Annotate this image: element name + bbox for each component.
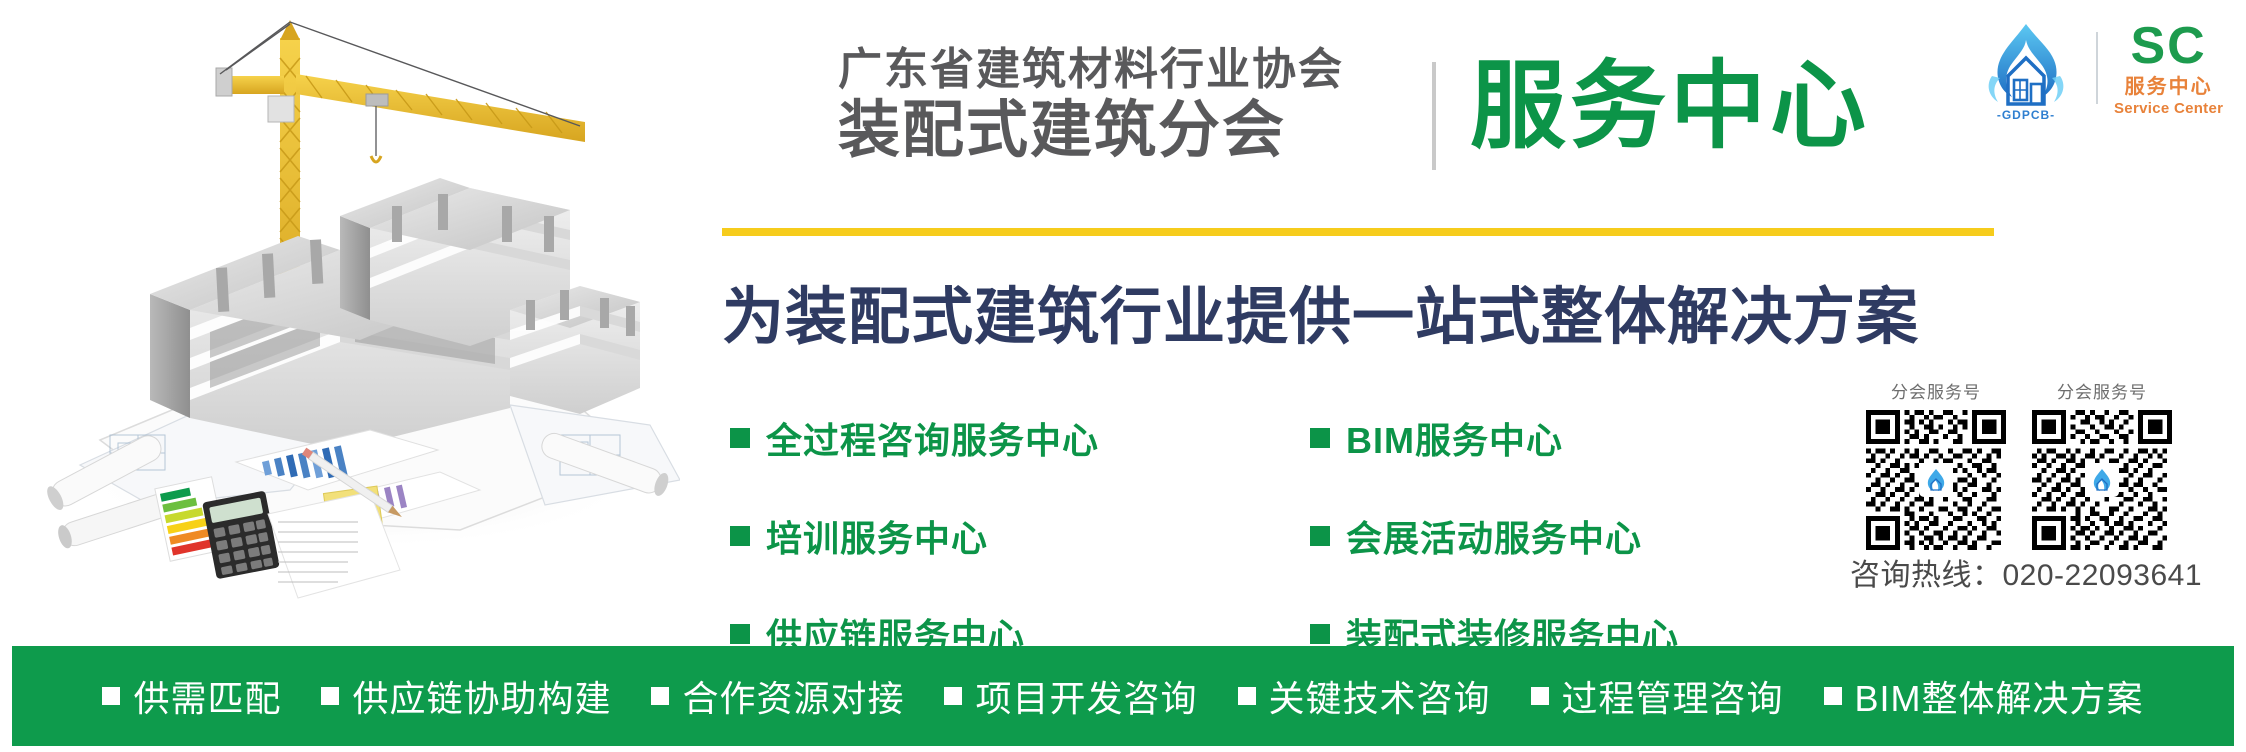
bottom-services-bar: 供需匹配 供应链协助构建 合作资源对接 项目开发咨询 关键技术咨询 过程管理咨询 (12, 646, 2234, 746)
logo-divider-icon (2096, 32, 2098, 104)
list-item[interactable]: 项目开发咨询 (944, 670, 1197, 722)
service-list-left: 全过程咨询服务中心 培训服务中心 供应链服务中心 (730, 412, 1099, 660)
list-item[interactable]: 会展活动服务中心 (1310, 510, 1679, 562)
list-item[interactable]: 培训服务中心 (730, 510, 1099, 562)
qr-code-icon[interactable] (1866, 410, 2006, 550)
square-bullet-icon (651, 687, 669, 705)
qr-center-logo-icon (2085, 463, 2119, 497)
bottom-item-label: 合作资源对接 (682, 670, 904, 722)
concrete-building-model (150, 178, 640, 450)
service-label: BIM服务中心 (1346, 412, 1563, 464)
square-bullet-icon (1310, 526, 1330, 546)
qr-code-icon[interactable] (2032, 410, 2172, 550)
list-item[interactable]: 供应链协助构建 (321, 670, 611, 722)
service-list-right: BIM服务中心 会展活动服务中心 装配式装修服务中心 (1310, 412, 1679, 660)
qr-code-group: 分会服务号 (1866, 378, 2172, 550)
list-item[interactable]: BIM整体解决方案 (1824, 670, 2144, 722)
list-item[interactable]: 过程管理咨询 (1531, 670, 1784, 722)
square-bullet-icon (730, 428, 750, 448)
association-title-block: 广东省建筑材料行业协会 装配式建筑分会 (838, 48, 1344, 162)
association-branch-name: 装配式建筑分会 (838, 100, 1286, 162)
construction-site-3d-render (40, 10, 680, 610)
square-bullet-icon (1310, 428, 1330, 448)
brand-logo-lockup: -GDPCB- SC 服务中心 Service Center (1972, 18, 2223, 118)
square-bullet-icon (321, 687, 339, 705)
logo-sc-chinese: 服务中心 (2125, 77, 2213, 97)
bottom-item-label: 关键技术咨询 (1269, 670, 1491, 722)
square-bullet-icon (1238, 687, 1256, 705)
square-bullet-icon (730, 526, 750, 546)
vertical-divider-icon (1432, 62, 1436, 170)
yellow-divider-rule (722, 228, 1994, 236)
list-item[interactable]: 关键技术咨询 (1238, 670, 1491, 722)
logo-sc-english: Service Center (2114, 101, 2223, 116)
square-bullet-icon (730, 624, 750, 644)
square-bullet-icon (102, 687, 120, 705)
service-label: 培训服务中心 (766, 510, 988, 562)
square-bullet-icon (1310, 624, 1330, 644)
square-bullet-icon (1531, 687, 1549, 705)
bottom-item-label: BIM整体解决方案 (1855, 670, 2144, 722)
qr-caption: 分会服务号 (2057, 378, 2147, 403)
list-item[interactable]: 合作资源对接 (651, 670, 904, 722)
square-bullet-icon (1824, 687, 1842, 705)
list-item[interactable]: BIM服务中心 (1310, 412, 1679, 464)
bottom-item-label: 供需匹配 (133, 670, 281, 722)
list-item[interactable]: 供需匹配 (102, 670, 281, 722)
qr-center-logo-icon (1919, 463, 1953, 497)
hotline-text: 咨询热线：020-22093641 (1850, 550, 2202, 594)
qr-cell: 分会服务号 (2032, 378, 2172, 550)
service-center-logo: SC 服务中心 Service Center (2114, 20, 2223, 116)
service-label: 会展活动服务中心 (1346, 510, 1642, 562)
bottom-item-label: 过程管理咨询 (1562, 670, 1784, 722)
gdpcb-flame-house-icon: -GDPCB- (1972, 18, 2080, 118)
square-bullet-icon (944, 687, 962, 705)
list-item[interactable]: 全过程咨询服务中心 (730, 412, 1099, 464)
promotional-banner: 广东省建筑材料行业协会 装配式建筑分会 服务中心 为装配式建筑行业提供一站式整体… (0, 0, 2246, 752)
bottom-item-label: 供应链协助构建 (352, 670, 611, 722)
association-name: 广东省建筑材料行业协会 (838, 48, 1344, 92)
qr-caption: 分会服务号 (1891, 378, 1981, 403)
service-center-heading: 服务中心 (1470, 52, 1870, 162)
bottom-items-list: 供需匹配 供应链协助构建 合作资源对接 项目开发咨询 关键技术咨询 过程管理咨询 (102, 670, 2143, 722)
service-label: 全过程咨询服务中心 (766, 412, 1099, 464)
qr-cell: 分会服务号 (1866, 378, 2006, 550)
page-title: 为装配式建筑行业提供一站式整体解决方案 (722, 266, 1919, 356)
logo-mark-caption: -GDPCB- (1972, 108, 2080, 122)
logo-sc-abbrev: SC (2131, 20, 2207, 72)
bottom-item-label: 项目开发咨询 (975, 670, 1197, 722)
